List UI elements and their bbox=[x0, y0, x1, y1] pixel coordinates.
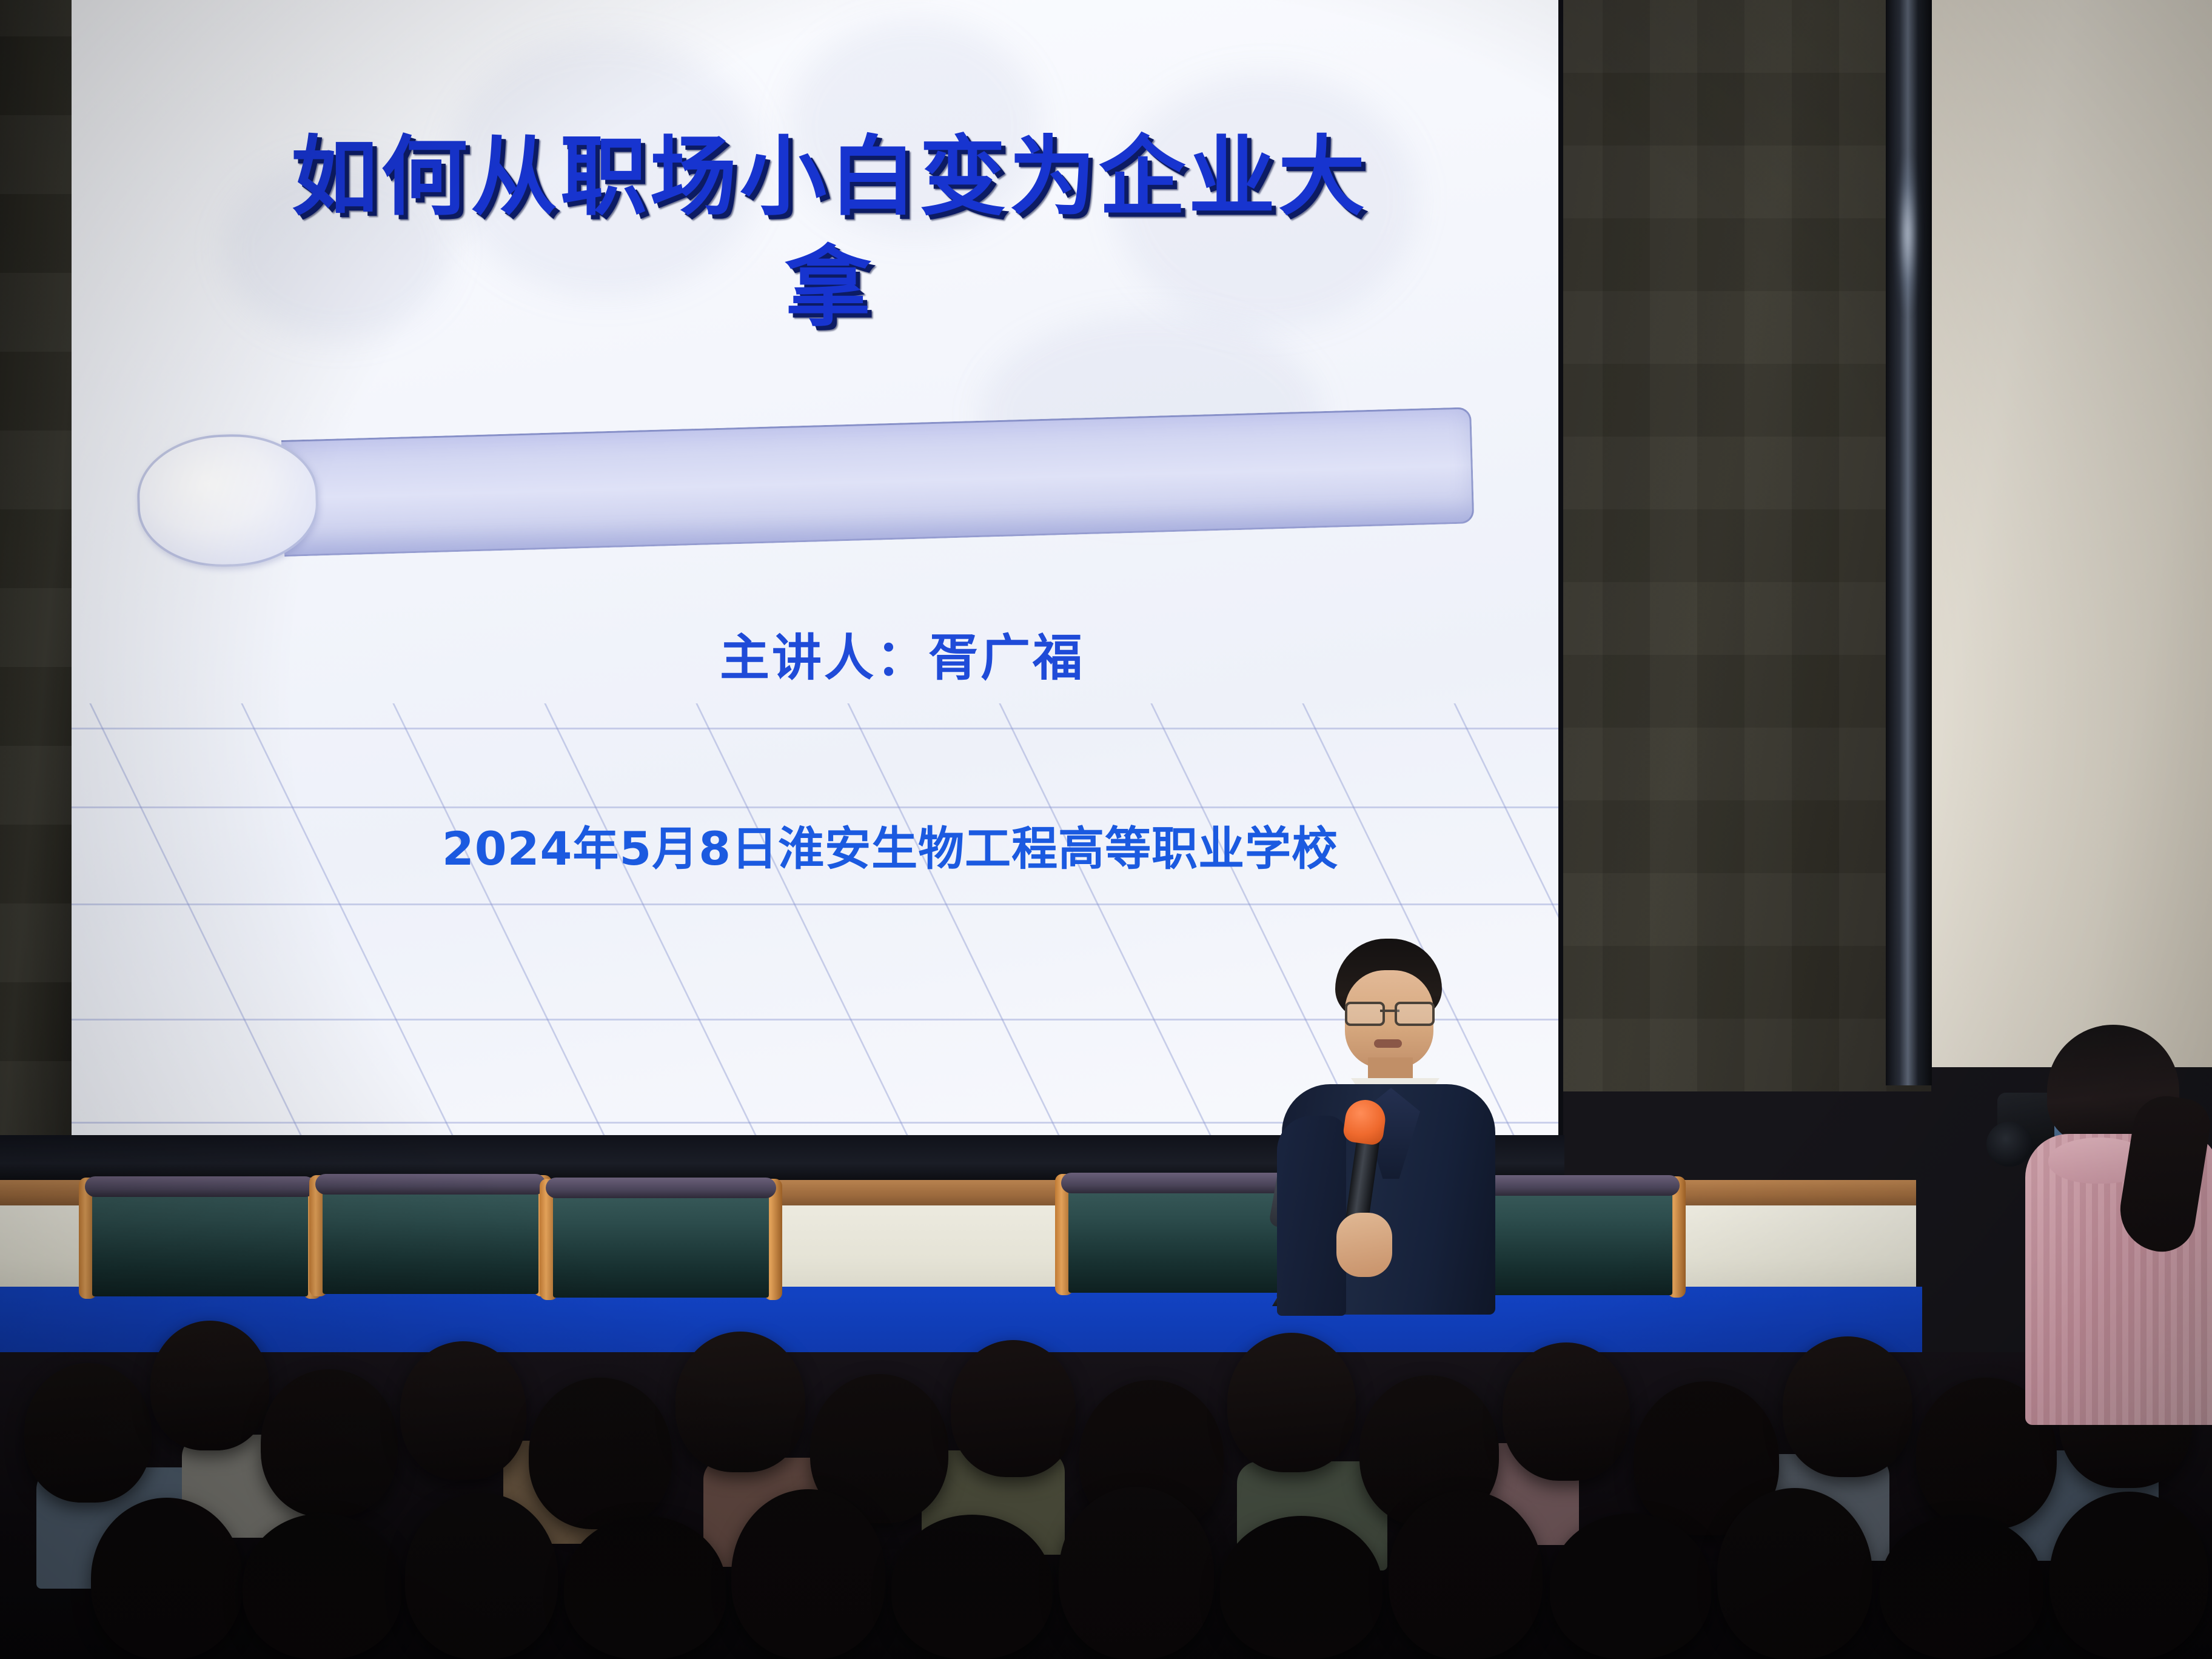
audience-head bbox=[261, 1369, 398, 1517]
audience-head bbox=[243, 1513, 401, 1659]
left-dark-wall-panel bbox=[0, 0, 72, 1140]
audience-head bbox=[564, 1516, 726, 1659]
photographer bbox=[2019, 1025, 2212, 1425]
slide-date-line: 2024年5月8日淮安生物工程高等职业学校 bbox=[253, 811, 1527, 878]
audience-head bbox=[1550, 1513, 1711, 1659]
audience-head bbox=[91, 1498, 243, 1659]
dark-tiled-wall-panel bbox=[1555, 0, 1931, 1091]
pill-bar-body bbox=[281, 407, 1475, 557]
glasses-icon bbox=[1345, 1002, 1435, 1022]
chair-back bbox=[1068, 1178, 1284, 1293]
presenter bbox=[1260, 939, 1515, 1315]
chair-back bbox=[323, 1179, 538, 1294]
stage-chair bbox=[79, 1181, 321, 1302]
presenter-mouth bbox=[1374, 1039, 1402, 1048]
chair-top-rail bbox=[1061, 1173, 1292, 1193]
audience-head bbox=[891, 1515, 1053, 1659]
chair-top-rail bbox=[85, 1176, 315, 1197]
audience-head bbox=[1880, 1515, 2043, 1659]
audience-head bbox=[529, 1378, 672, 1529]
audience-head bbox=[951, 1340, 1076, 1477]
presenter-arm bbox=[1277, 1116, 1346, 1316]
metal-glint-highlight bbox=[1897, 152, 1919, 315]
slide-title: 如何从职场小白变为企业大 拿 bbox=[253, 121, 1406, 343]
audience-head bbox=[24, 1363, 152, 1503]
audience-head bbox=[150, 1321, 269, 1450]
chair-back bbox=[92, 1181, 308, 1296]
lecture-hall-photo: 如何从职场小白变为企业大 拿 主讲人：胥广福 2024年5月8日淮安生物工程高等… bbox=[0, 0, 2212, 1659]
audience-head bbox=[1503, 1342, 1630, 1481]
stage-chair bbox=[540, 1182, 782, 1304]
audience-head bbox=[1783, 1336, 1912, 1477]
chair-back bbox=[553, 1182, 769, 1298]
stage-chair bbox=[309, 1179, 552, 1300]
chair-top-rail bbox=[546, 1178, 776, 1198]
audience-head bbox=[2049, 1492, 2208, 1659]
decorative-pill-bar bbox=[136, 400, 1473, 561]
audience-head bbox=[1059, 1487, 1214, 1659]
camera-lens-icon bbox=[1986, 1122, 2033, 1167]
audience-head bbox=[675, 1332, 805, 1472]
audience-head bbox=[405, 1493, 558, 1659]
audience-head bbox=[400, 1341, 526, 1480]
presenter-hand bbox=[1336, 1213, 1392, 1277]
right-beige-wall bbox=[1928, 0, 2212, 1067]
slide-speaker-line: 主讲人：胥广福 bbox=[387, 617, 1418, 689]
chair-top-rail bbox=[315, 1174, 546, 1195]
audience-head bbox=[1227, 1333, 1356, 1472]
audience-head bbox=[1389, 1490, 1543, 1659]
audience-head bbox=[731, 1489, 885, 1659]
audience-head bbox=[1220, 1516, 1382, 1659]
audience-head bbox=[1717, 1488, 1872, 1659]
